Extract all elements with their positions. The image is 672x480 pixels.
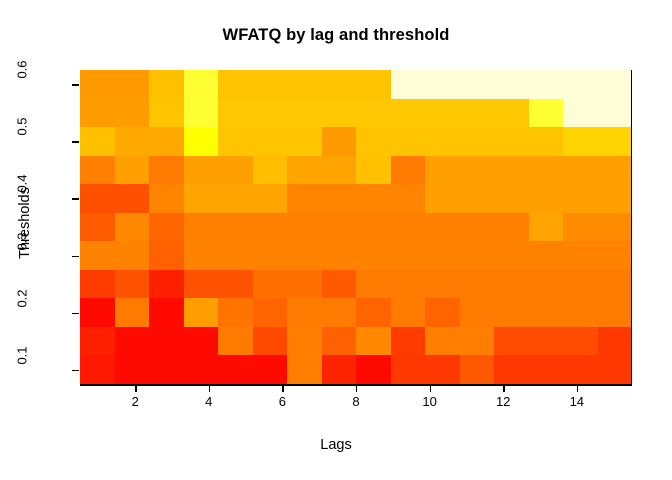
heatmap-cell bbox=[184, 99, 219, 128]
heatmap-cell bbox=[287, 355, 322, 384]
heatmap-cell bbox=[529, 184, 564, 213]
heatmap-cell bbox=[149, 213, 184, 242]
y-axis-line bbox=[631, 70, 633, 384]
heatmap-cell bbox=[287, 270, 322, 299]
x-tick-mark bbox=[282, 385, 283, 392]
heatmap-cell bbox=[563, 99, 598, 128]
heatmap-cell bbox=[149, 156, 184, 185]
heatmap-cell bbox=[184, 127, 219, 156]
heatmap-cell bbox=[356, 241, 391, 270]
heatmap-cell bbox=[149, 327, 184, 356]
heatmap-cell bbox=[184, 327, 219, 356]
y-tick-mark bbox=[72, 198, 79, 199]
heatmap-cell bbox=[563, 355, 598, 384]
heatmap-cell bbox=[218, 355, 253, 384]
heatmap-cell bbox=[115, 241, 150, 270]
heatmap-cell bbox=[253, 127, 288, 156]
heatmap-cell bbox=[529, 241, 564, 270]
heatmap-cell bbox=[425, 156, 460, 185]
heatmap-cell bbox=[563, 327, 598, 356]
heatmap-cell bbox=[460, 99, 495, 128]
heatmap-cell bbox=[149, 355, 184, 384]
heatmap-cell bbox=[218, 241, 253, 270]
heatmap-cell bbox=[391, 156, 426, 185]
heatmap-cell bbox=[460, 270, 495, 299]
heatmap-cell bbox=[287, 213, 322, 242]
y-tick-mark bbox=[72, 141, 79, 142]
heatmap-cell bbox=[115, 327, 150, 356]
x-axis-title: Lags bbox=[0, 437, 672, 453]
heatmap-cell bbox=[253, 241, 288, 270]
heatmap-cell bbox=[494, 327, 529, 356]
heatmap-cell bbox=[218, 184, 253, 213]
heatmap-grid bbox=[80, 70, 632, 384]
heatmap-cell bbox=[494, 241, 529, 270]
heatmap-row bbox=[80, 213, 632, 242]
y-axis-title: Thresholds bbox=[17, 83, 33, 363]
heatmap-cell bbox=[494, 156, 529, 185]
x-tick-mark bbox=[503, 385, 504, 392]
heatmap-cell bbox=[184, 298, 219, 327]
heatmap-cell bbox=[218, 99, 253, 128]
heatmap-cell bbox=[218, 270, 253, 299]
heatmap-cell bbox=[598, 355, 633, 384]
x-tick-mark bbox=[356, 385, 357, 392]
heatmap-row bbox=[80, 70, 632, 99]
heatmap-cell bbox=[494, 127, 529, 156]
heatmap-cell bbox=[391, 298, 426, 327]
heatmap-cell bbox=[529, 355, 564, 384]
heatmap-cell bbox=[322, 127, 357, 156]
heatmap-cell bbox=[356, 70, 391, 99]
heatmap-cell bbox=[391, 213, 426, 242]
heatmap-plot: WFATQ by lag and threshold 2468101214 0.… bbox=[0, 0, 672, 480]
x-tick-mark bbox=[577, 385, 578, 392]
heatmap-cell bbox=[529, 70, 564, 99]
heatmap-cell bbox=[115, 213, 150, 242]
heatmap-cell bbox=[115, 99, 150, 128]
heatmap-cell bbox=[425, 127, 460, 156]
heatmap-cell bbox=[391, 355, 426, 384]
x-tick-label: 14 bbox=[557, 394, 597, 409]
heatmap-cell bbox=[80, 241, 115, 270]
heatmap-cell bbox=[356, 213, 391, 242]
heatmap-cell bbox=[322, 355, 357, 384]
heatmap-cell bbox=[322, 327, 357, 356]
heatmap-cell bbox=[460, 184, 495, 213]
heatmap-cell bbox=[494, 355, 529, 384]
heatmap-cell bbox=[115, 127, 150, 156]
heatmap-cell bbox=[563, 70, 598, 99]
x-tick-mark bbox=[209, 385, 210, 392]
heatmap-cell bbox=[425, 99, 460, 128]
heatmap-cell bbox=[80, 355, 115, 384]
heatmap-row bbox=[80, 241, 632, 270]
heatmap-cell bbox=[322, 156, 357, 185]
heatmap-cell bbox=[322, 70, 357, 99]
heatmap-cell bbox=[287, 327, 322, 356]
heatmap-cell bbox=[218, 127, 253, 156]
heatmap-cell bbox=[253, 213, 288, 242]
x-tick-label: 8 bbox=[336, 394, 376, 409]
heatmap-cell bbox=[322, 241, 357, 270]
y-tick-mark bbox=[72, 370, 79, 371]
heatmap-cell bbox=[563, 213, 598, 242]
heatmap-cell bbox=[80, 70, 115, 99]
heatmap-cell bbox=[356, 99, 391, 128]
heatmap-cell bbox=[425, 355, 460, 384]
heatmap-cell bbox=[356, 270, 391, 299]
heatmap-cell bbox=[598, 298, 633, 327]
heatmap-cell bbox=[149, 270, 184, 299]
heatmap-cell bbox=[391, 70, 426, 99]
heatmap-cell bbox=[184, 213, 219, 242]
heatmap-cell bbox=[149, 70, 184, 99]
heatmap-cell bbox=[563, 127, 598, 156]
heatmap-cell bbox=[322, 270, 357, 299]
heatmap-row bbox=[80, 184, 632, 213]
heatmap-cell bbox=[149, 99, 184, 128]
heatmap-cell bbox=[494, 298, 529, 327]
heatmap-cell bbox=[218, 327, 253, 356]
heatmap-cell bbox=[494, 270, 529, 299]
heatmap-cell bbox=[218, 298, 253, 327]
heatmap-cell bbox=[598, 184, 633, 213]
y-tick-mark bbox=[72, 313, 79, 314]
heatmap-cell bbox=[425, 70, 460, 99]
heatmap-cell bbox=[563, 270, 598, 299]
heatmap-cell bbox=[322, 99, 357, 128]
x-tick-mark bbox=[135, 385, 136, 392]
heatmap-cell bbox=[356, 156, 391, 185]
heatmap-cell bbox=[460, 127, 495, 156]
heatmap-cell bbox=[598, 99, 633, 128]
heatmap-cell bbox=[322, 298, 357, 327]
heatmap-cell bbox=[598, 156, 633, 185]
heatmap-cell bbox=[287, 99, 322, 128]
heatmap-cell bbox=[115, 70, 150, 99]
heatmap-cell bbox=[184, 156, 219, 185]
heatmap-cell bbox=[287, 70, 322, 99]
heatmap-cell bbox=[184, 241, 219, 270]
heatmap-cell bbox=[184, 184, 219, 213]
heatmap-cell bbox=[115, 270, 150, 299]
heatmap-cell bbox=[425, 184, 460, 213]
heatmap-cell bbox=[218, 213, 253, 242]
heatmap-cell bbox=[563, 156, 598, 185]
heatmap-cell bbox=[563, 241, 598, 270]
heatmap-cell bbox=[460, 298, 495, 327]
heatmap-cell bbox=[149, 184, 184, 213]
heatmap-cell bbox=[460, 241, 495, 270]
heatmap-cell bbox=[529, 327, 564, 356]
heatmap-row bbox=[80, 127, 632, 156]
heatmap-cell bbox=[425, 241, 460, 270]
heatmap-cell bbox=[529, 213, 564, 242]
y-tick-mark bbox=[72, 84, 79, 85]
heatmap-cell bbox=[184, 70, 219, 99]
heatmap-cell bbox=[287, 184, 322, 213]
heatmap-cell bbox=[253, 355, 288, 384]
heatmap-row bbox=[80, 156, 632, 185]
heatmap-cell bbox=[253, 327, 288, 356]
heatmap-cell bbox=[80, 99, 115, 128]
heatmap-cell bbox=[529, 270, 564, 299]
heatmap-cell bbox=[563, 184, 598, 213]
heatmap-cell bbox=[563, 298, 598, 327]
heatmap-cell bbox=[80, 270, 115, 299]
heatmap-cell bbox=[80, 156, 115, 185]
x-tick-label: 4 bbox=[189, 394, 229, 409]
heatmap-cell bbox=[529, 156, 564, 185]
chart-title: WFATQ by lag and threshold bbox=[0, 26, 672, 45]
heatmap-cell bbox=[356, 184, 391, 213]
x-tick-label: 12 bbox=[483, 394, 523, 409]
heatmap-cell bbox=[287, 241, 322, 270]
heatmap-cell bbox=[425, 327, 460, 356]
heatmap-cell bbox=[391, 327, 426, 356]
heatmap-row bbox=[80, 99, 632, 128]
heatmap-cell bbox=[494, 213, 529, 242]
heatmap-row bbox=[80, 327, 632, 356]
y-tick-mark bbox=[72, 256, 79, 257]
heatmap-cell bbox=[460, 156, 495, 185]
heatmap-cell bbox=[253, 70, 288, 99]
heatmap-cell bbox=[598, 127, 633, 156]
heatmap-cell bbox=[253, 270, 288, 299]
heatmap-cell bbox=[253, 298, 288, 327]
heatmap-cell bbox=[80, 184, 115, 213]
heatmap-cell bbox=[80, 127, 115, 156]
heatmap-cell bbox=[115, 298, 150, 327]
heatmap-cell bbox=[218, 70, 253, 99]
heatmap-cell bbox=[460, 213, 495, 242]
x-tick-mark bbox=[430, 385, 431, 392]
heatmap-cell bbox=[287, 298, 322, 327]
heatmap-cell bbox=[598, 213, 633, 242]
heatmap-cell bbox=[80, 213, 115, 242]
heatmap-cell bbox=[425, 270, 460, 299]
heatmap-cell bbox=[460, 355, 495, 384]
x-tick-label: 2 bbox=[115, 394, 155, 409]
heatmap-cell bbox=[598, 327, 633, 356]
heatmap-cell bbox=[184, 270, 219, 299]
heatmap-cell bbox=[356, 355, 391, 384]
heatmap-cell bbox=[322, 213, 357, 242]
heatmap-cell bbox=[356, 327, 391, 356]
heatmap-cell bbox=[391, 127, 426, 156]
heatmap-cell bbox=[149, 298, 184, 327]
heatmap-cell bbox=[391, 270, 426, 299]
heatmap-row bbox=[80, 355, 632, 384]
heatmap-cell bbox=[253, 156, 288, 185]
heatmap-cell bbox=[460, 70, 495, 99]
heatmap-cell bbox=[598, 270, 633, 299]
heatmap-cell bbox=[494, 99, 529, 128]
heatmap-cell bbox=[529, 99, 564, 128]
heatmap-cell bbox=[287, 127, 322, 156]
heatmap-cell bbox=[149, 127, 184, 156]
heatmap-cell bbox=[356, 127, 391, 156]
heatmap-cell bbox=[184, 355, 219, 384]
heatmap-cell bbox=[494, 70, 529, 99]
heatmap-row bbox=[80, 270, 632, 299]
heatmap-cell bbox=[218, 156, 253, 185]
heatmap-cell bbox=[425, 298, 460, 327]
heatmap-row bbox=[80, 298, 632, 327]
heatmap-cell bbox=[391, 241, 426, 270]
heatmap-cell bbox=[391, 99, 426, 128]
heatmap-cell bbox=[460, 327, 495, 356]
heatmap-cell bbox=[149, 241, 184, 270]
heatmap-cell bbox=[253, 184, 288, 213]
heatmap-cell bbox=[322, 184, 357, 213]
heatmap-cell bbox=[115, 355, 150, 384]
heatmap-cell bbox=[598, 241, 633, 270]
heatmap-cell bbox=[598, 70, 633, 99]
heatmap-cell bbox=[529, 127, 564, 156]
heatmap-cell bbox=[80, 327, 115, 356]
heatmap-cell bbox=[425, 213, 460, 242]
heatmap-cell bbox=[391, 184, 426, 213]
heatmap-cell bbox=[287, 156, 322, 185]
heatmap-cell bbox=[529, 298, 564, 327]
x-tick-label: 10 bbox=[410, 394, 450, 409]
heatmap-cell bbox=[80, 298, 115, 327]
x-tick-label: 6 bbox=[262, 394, 302, 409]
heatmap-cell bbox=[115, 184, 150, 213]
heatmap-cell bbox=[115, 156, 150, 185]
heatmap-cell bbox=[253, 99, 288, 128]
heatmap-cell bbox=[356, 298, 391, 327]
heatmap-cell bbox=[494, 184, 529, 213]
